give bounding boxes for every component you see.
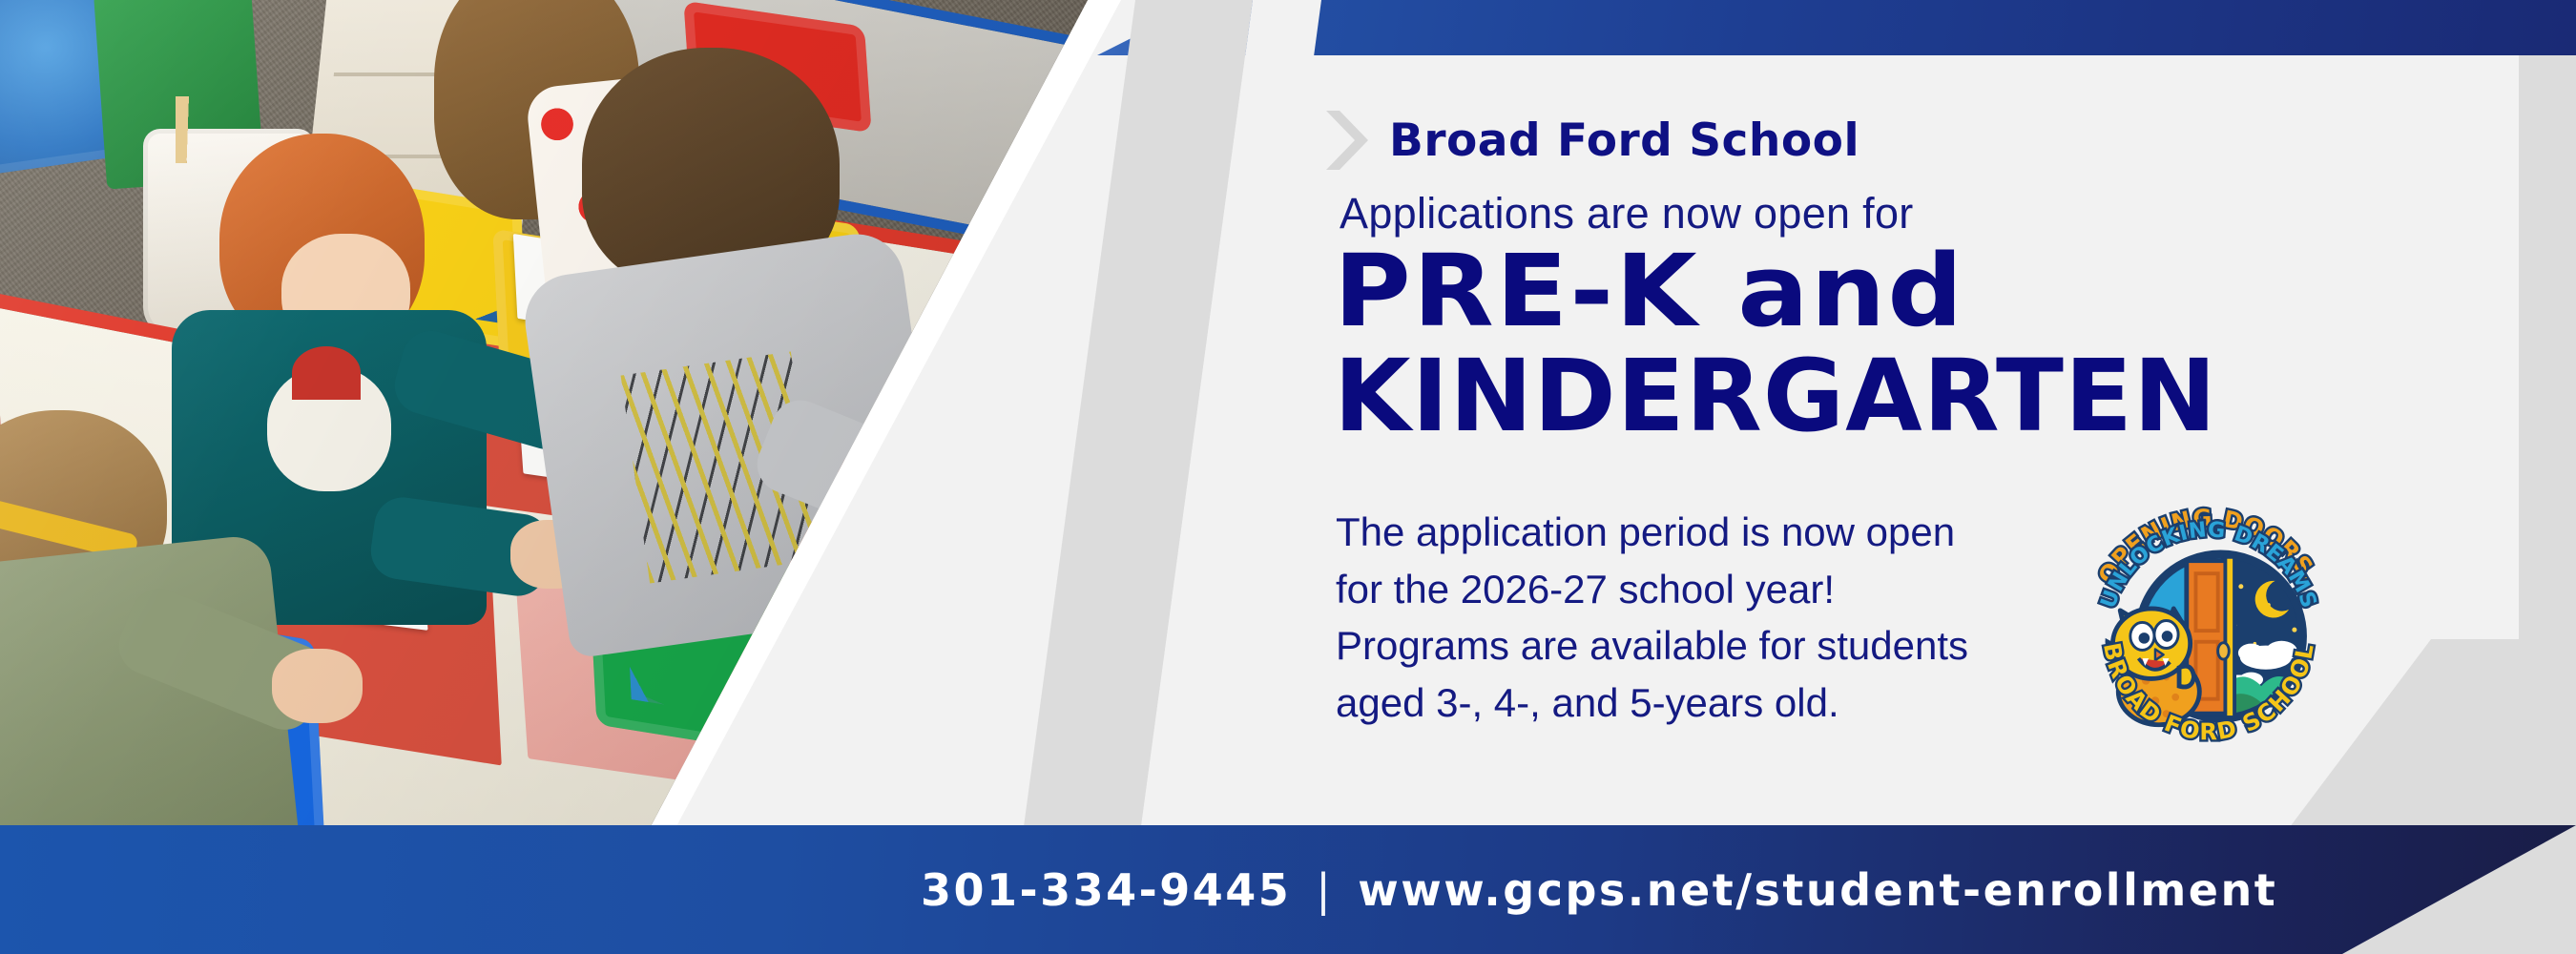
body-copy: The application period is now open for t… [1336,504,1984,732]
contact-info: 301-334-9445 | www.gcps.net/student-enro… [921,864,2277,916]
enrollment-banner: 17 3 16 8 [0,0,2576,954]
content-panel: Broad Ford School Applications are now o… [1240,0,2576,954]
chevron-right-icon [1326,111,1368,170]
kicker-text: Applications are now open for [1340,189,1914,238]
contact-separator: | [1316,864,1333,916]
photo-frame: 17 3 16 8 [0,0,1121,878]
phone-number[interactable]: 301-334-9445 [921,864,1291,916]
headline-line-1: PRE-K and [1334,246,1964,338]
school-name: Broad Ford School [1389,114,1859,167]
headline-line-2: KINDERGARTEN [1334,351,2217,443]
website-url[interactable]: www.gcps.net/student-enrollment [1358,864,2277,916]
classroom-photo: 17 3 16 8 [0,0,1088,844]
contact-bar: 301-334-9445 | www.gcps.net/student-enro… [0,825,2576,954]
broad-ford-school-seal: OPENING DOORS, UNLOCKING DREAMS BROAD FO… [2070,496,2347,773]
student-gray-shirt [553,48,954,611]
student-green-shirt [0,410,324,844]
school-logo: OPENING DOORS, UNLOCKING DREAMS BROAD FO… [2070,496,2347,773]
school-name-row: Broad Ford School [1326,111,1859,170]
